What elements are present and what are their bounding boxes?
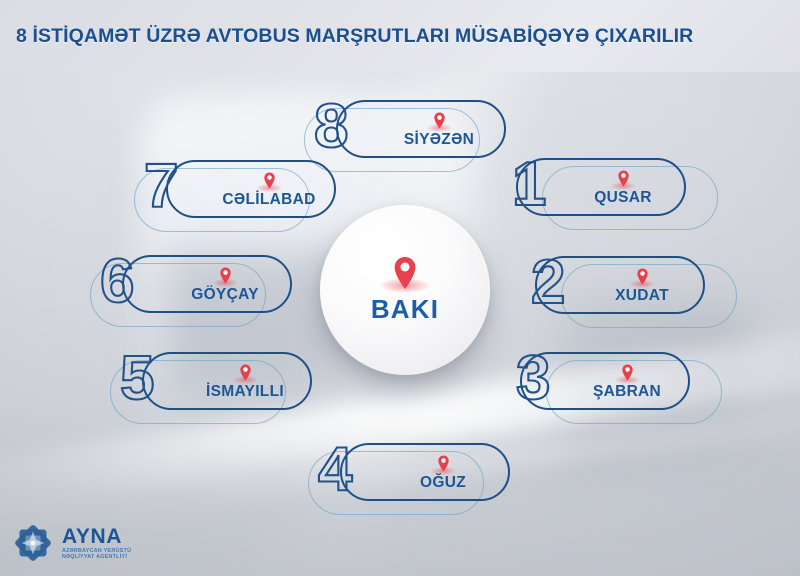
map-pin-icon <box>621 364 634 381</box>
eight-point-star-icon <box>12 522 54 564</box>
node-content: OĞUZ <box>380 447 506 499</box>
page-title: 8 İSTİQAMƏT ÜZRƏ AVTOBUS MARŞRUTLARI MÜS… <box>0 25 693 48</box>
destination-node-3[interactable]: 3 ŞABRAN <box>520 352 708 420</box>
node-city-label: İSMAYILLI <box>206 383 284 401</box>
logo-subtitle-line-2: NƏQLİYYAT AGENTLİYİ <box>62 555 131 560</box>
node-content: SİYƏZƏN <box>376 104 502 156</box>
node-number: 7 <box>144 156 178 218</box>
logo-text-block: AYNA AZƏRBAYCAN YERÜSTÜ NƏQLİYYAT AGENTL… <box>62 526 131 560</box>
node-number: 4 <box>318 439 352 501</box>
map-pin-icon <box>433 112 446 129</box>
map-pin-icon <box>437 455 450 472</box>
destination-node-5[interactable]: 5 İSMAYILLI <box>124 352 312 420</box>
node-city-label: QUSAR <box>594 189 651 207</box>
destination-node-4[interactable]: 4 OĞUZ <box>322 443 510 511</box>
node-content: ŞABRAN <box>564 356 690 408</box>
node-number: 5 <box>120 348 154 410</box>
node-city-label: ŞABRAN <box>593 383 661 401</box>
infographic-poster: 8 İSTİQAMƏT ÜZRƏ AVTOBUS MARŞRUTLARI MÜS… <box>0 0 800 576</box>
node-content: XUDAT <box>579 260 705 312</box>
map-pin-icon <box>392 256 418 290</box>
node-number: 6 <box>100 251 134 313</box>
center-hub-label: BAKI <box>371 294 439 325</box>
node-number: 8 <box>314 96 348 158</box>
node-city-label: CƏLİLABAD <box>222 191 315 209</box>
map-pin-icon <box>219 267 232 284</box>
header-bar: 8 İSTİQAMƏT ÜZRƏ AVTOBUS MARŞRUTLARI MÜS… <box>0 0 800 72</box>
node-city-label: OĞUZ <box>420 474 466 492</box>
node-number: 1 <box>512 154 546 216</box>
logo-brand-name: AYNA <box>62 526 131 547</box>
destination-node-1[interactable]: 1 QUSAR <box>516 158 704 226</box>
node-content: İSMAYILLI <box>182 356 308 408</box>
destination-node-2[interactable]: 2 XUDAT <box>535 256 723 324</box>
map-pin-icon <box>239 364 252 381</box>
logo-subtitle: AZƏRBAYCAN YERÜSTÜ NƏQLİYYAT AGENTLİYİ <box>62 549 131 560</box>
destination-node-8[interactable]: 8 SİYƏZƏN <box>318 100 506 168</box>
center-hub-baki[interactable]: BAKI <box>320 205 490 375</box>
node-city-label: SİYƏZƏN <box>404 131 474 149</box>
map-pin-icon <box>617 170 630 187</box>
node-number: 2 <box>531 252 565 314</box>
node-content: QUSAR <box>560 162 686 214</box>
node-content: CƏLİLABAD <box>206 164 332 216</box>
destination-node-6[interactable]: 6 GÖYÇAY <box>104 255 292 323</box>
ayna-logo[interactable]: AYNA AZƏRBAYCAN YERÜSTÜ NƏQLİYYAT AGENTL… <box>12 522 131 564</box>
node-city-label: GÖYÇAY <box>191 286 259 304</box>
node-city-label: XUDAT <box>615 287 669 305</box>
map-pin-icon <box>636 268 649 285</box>
node-number: 3 <box>516 348 550 410</box>
node-content: GÖYÇAY <box>162 259 288 311</box>
map-pin-icon <box>263 172 276 189</box>
destination-node-7[interactable]: 7 CƏLİLABAD <box>148 160 336 228</box>
